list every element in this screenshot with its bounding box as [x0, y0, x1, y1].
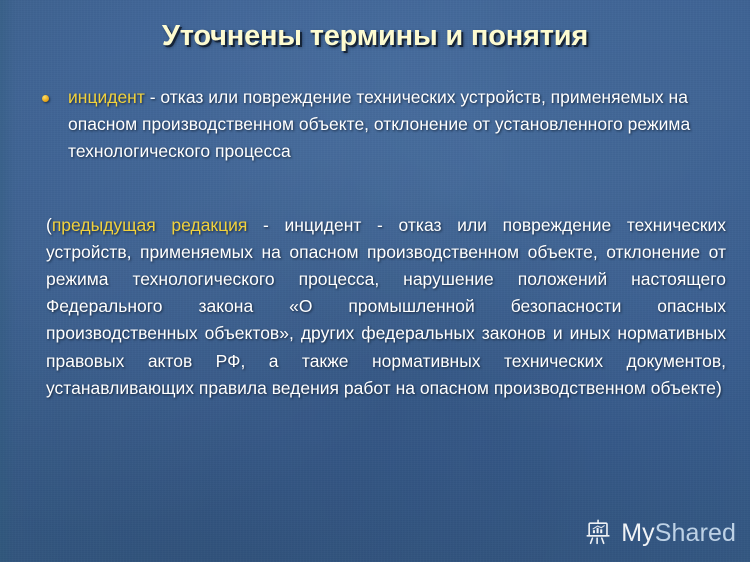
previous-edition-highlight: предыдущая редакция	[52, 215, 248, 235]
myshared-watermark: MyShared	[584, 518, 736, 548]
previous-edition-paragraph: (предыдущая редакция - инцидент - отказ …	[24, 212, 730, 402]
presentation-board-chart-icon	[584, 518, 614, 548]
brand-shared: Shared	[655, 519, 736, 547]
term-incident-highlight: инцидент	[68, 87, 145, 107]
bullet-dot-icon	[42, 95, 49, 102]
presentation-slide: Уточнены термины и понятия инцидент - от…	[0, 0, 750, 562]
previous-edition-text: - инцидент - отказ или повреждение техни…	[46, 215, 726, 398]
brand-my: My	[621, 519, 655, 547]
slide-body: инцидент - отказ или повреждение техниче…	[24, 84, 730, 402]
bullet-paragraph-text: - отказ или повреждение технических устр…	[68, 87, 690, 161]
bullet-paragraph: инцидент - отказ или повреждение техниче…	[24, 84, 730, 166]
slide-title: Уточнены термины и понятия	[0, 20, 750, 53]
myshared-brand-text: MyShared	[621, 521, 736, 546]
